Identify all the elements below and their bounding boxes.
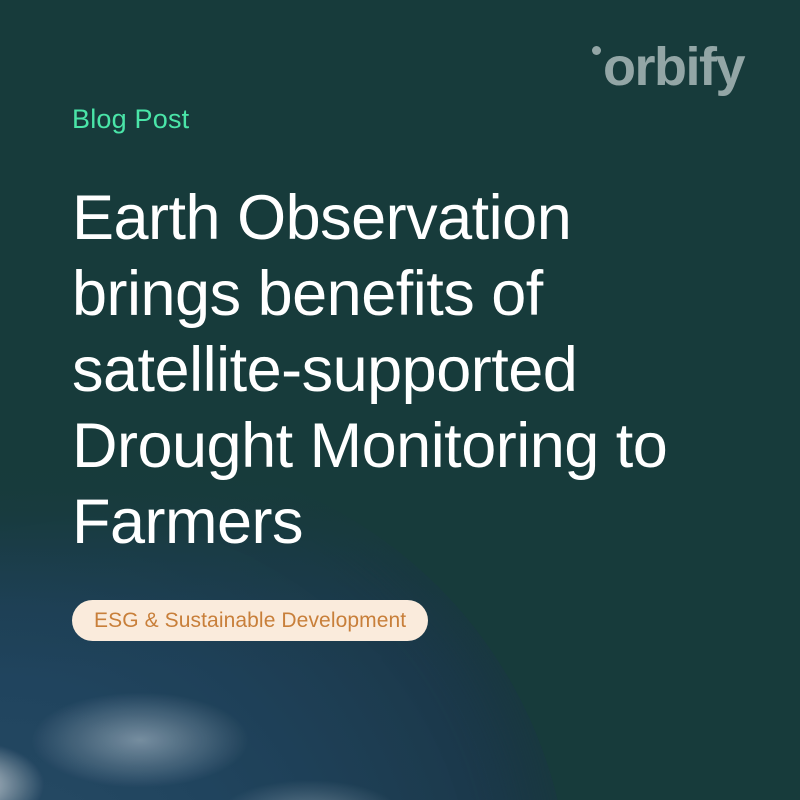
page-title: Earth Observation brings benefits of sat… — [72, 180, 732, 560]
category-badge[interactable]: ESG & Sustainable Development — [72, 600, 428, 641]
headline-line-3: satellite-supported — [72, 332, 732, 408]
dot-icon — [592, 46, 601, 55]
headline-line-5: Farmers — [72, 484, 732, 560]
headline-line-1: Earth Observation — [72, 180, 732, 256]
logo-wordmark: orbify — [603, 40, 744, 94]
orbify-logo[interactable]: orbify — [592, 40, 744, 94]
headline-line-2: brings benefits of — [72, 256, 732, 332]
content-type-eyebrow: Blog Post — [72, 103, 189, 135]
blog-post-cover: orbify Blog Post Earth Observation bring… — [0, 0, 800, 800]
headline-line-4: Drought Monitoring to — [72, 408, 732, 484]
